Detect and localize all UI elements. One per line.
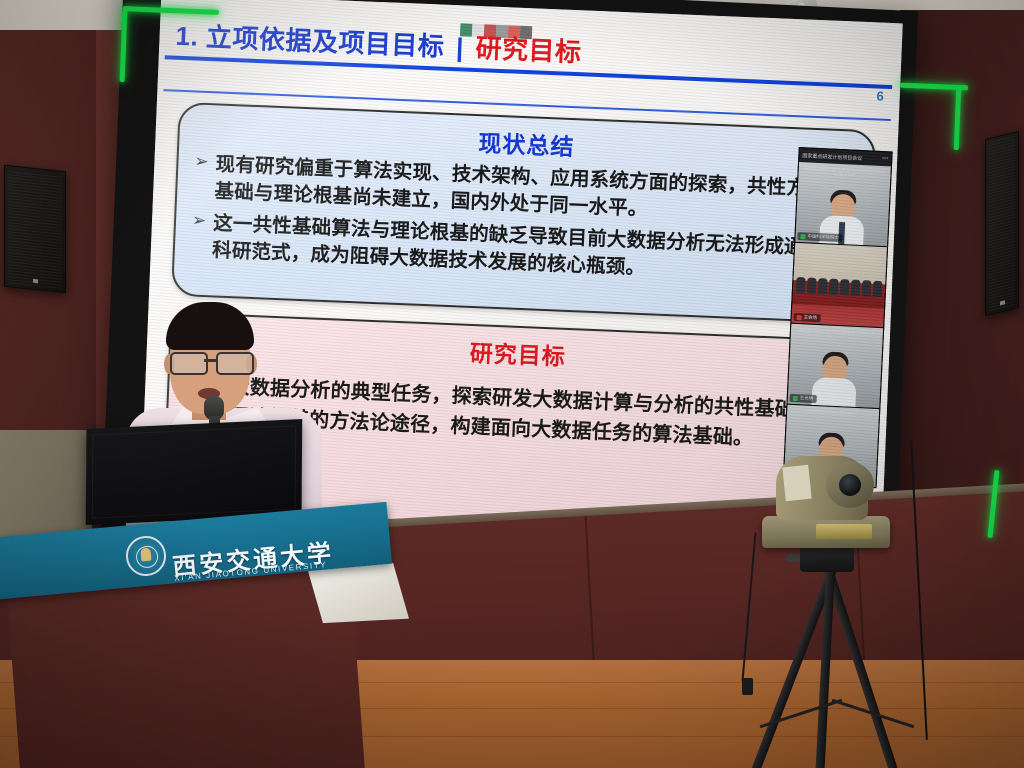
wall-speaker-right <box>985 131 1019 316</box>
video-tile-meeting-room[interactable]: 主会场 <box>791 243 887 328</box>
conference-hall-photo: 1. 立项依据及项目目标 | 研究目标 6 现状总结 ➢ 现有研究偏重于算法实现… <box>0 0 1024 768</box>
video-panel-title: 国家重点研发计划项目会议 <box>802 152 862 162</box>
tripod-head[interactable] <box>800 544 854 572</box>
video-tile-nameplate: 主会场 <box>793 313 820 322</box>
podium: 西安交通大学 XI'AN JIAOTONG UNIVERSITY <box>0 520 406 768</box>
podium-laptop[interactable] <box>86 419 302 525</box>
tripod-adjust-knob[interactable] <box>786 554 800 562</box>
video-tile-participant-2[interactable]: 国家重点研发计划专项项目负责人答辩汇报 王光明 <box>787 324 883 409</box>
video-tile-nameplate: 王光明 <box>790 394 817 403</box>
microphone-icon <box>793 395 798 400</box>
eyeglasses-bridge <box>204 359 216 362</box>
slide-title-separator: | <box>455 32 464 62</box>
cable-connector-box <box>742 678 753 695</box>
bullet-marker-icon: ➢ <box>192 209 207 233</box>
video-tile-caption: 项目评审专家组成员视频接入 <box>789 408 877 418</box>
video-tile-caption: 国家重点研发计划专项项目负责人答辩汇报 <box>793 327 881 337</box>
slide-page-number: 6 <box>876 88 884 103</box>
video-conference-panel[interactable]: 国家重点研发计划项目会议 ••• 国家重点研发计划"大数据分析的基础理论和方法"… <box>783 147 893 488</box>
camera-label-sticker <box>782 465 811 502</box>
podium-side-panel <box>307 563 409 623</box>
slide-title-main: 立项依据及项目目标 <box>205 22 445 62</box>
video-tile-label: 王光明 <box>800 395 814 402</box>
wall-speaker-left <box>4 165 66 294</box>
slide-title-number: 1. <box>175 21 199 52</box>
eyeglasses-lens-left <box>170 352 208 375</box>
video-tile-caption: 国家重点研发计划"大数据分析的基础理论和方法"重点专项 <box>800 165 888 180</box>
video-tile-label: 主会场 <box>803 314 817 321</box>
box-status-summary-bullets: ➢ 现有研究偏重于算法实现、技术架构、应用系统方面的探索，共性方法论基础与理论根… <box>188 150 860 290</box>
more-options-icon[interactable]: ••• <box>882 156 889 162</box>
camera-front-badge <box>816 524 872 539</box>
bullet-marker-icon: ➢ <box>194 151 209 175</box>
video-tile-nameplate: 中国科学院院士 <box>797 232 842 242</box>
microphone-muted-icon <box>797 315 802 320</box>
tripod-leg <box>824 569 903 768</box>
presenter-hair <box>166 302 254 350</box>
video-tile-participant-1[interactable]: 国家重点研发计划"大数据分析的基础理论和方法"重点专项 中国科学院院士 <box>795 162 891 247</box>
video-tile-label: 中国科学院院士 <box>807 233 839 241</box>
camera-tripod-rig <box>742 440 932 768</box>
eyeglasses-lens-right <box>216 352 254 375</box>
camera-cable <box>741 532 756 682</box>
camera-lens-icon <box>826 462 874 508</box>
slide-title-highlight: 研究目标 <box>475 33 582 67</box>
hanging-cord <box>910 440 928 740</box>
microphone-icon <box>800 234 805 239</box>
box-status-summary: 现状总结 ➢ 现有研究偏重于算法实现、技术架构、应用系统方面的探索，共性方法论基… <box>171 102 876 324</box>
